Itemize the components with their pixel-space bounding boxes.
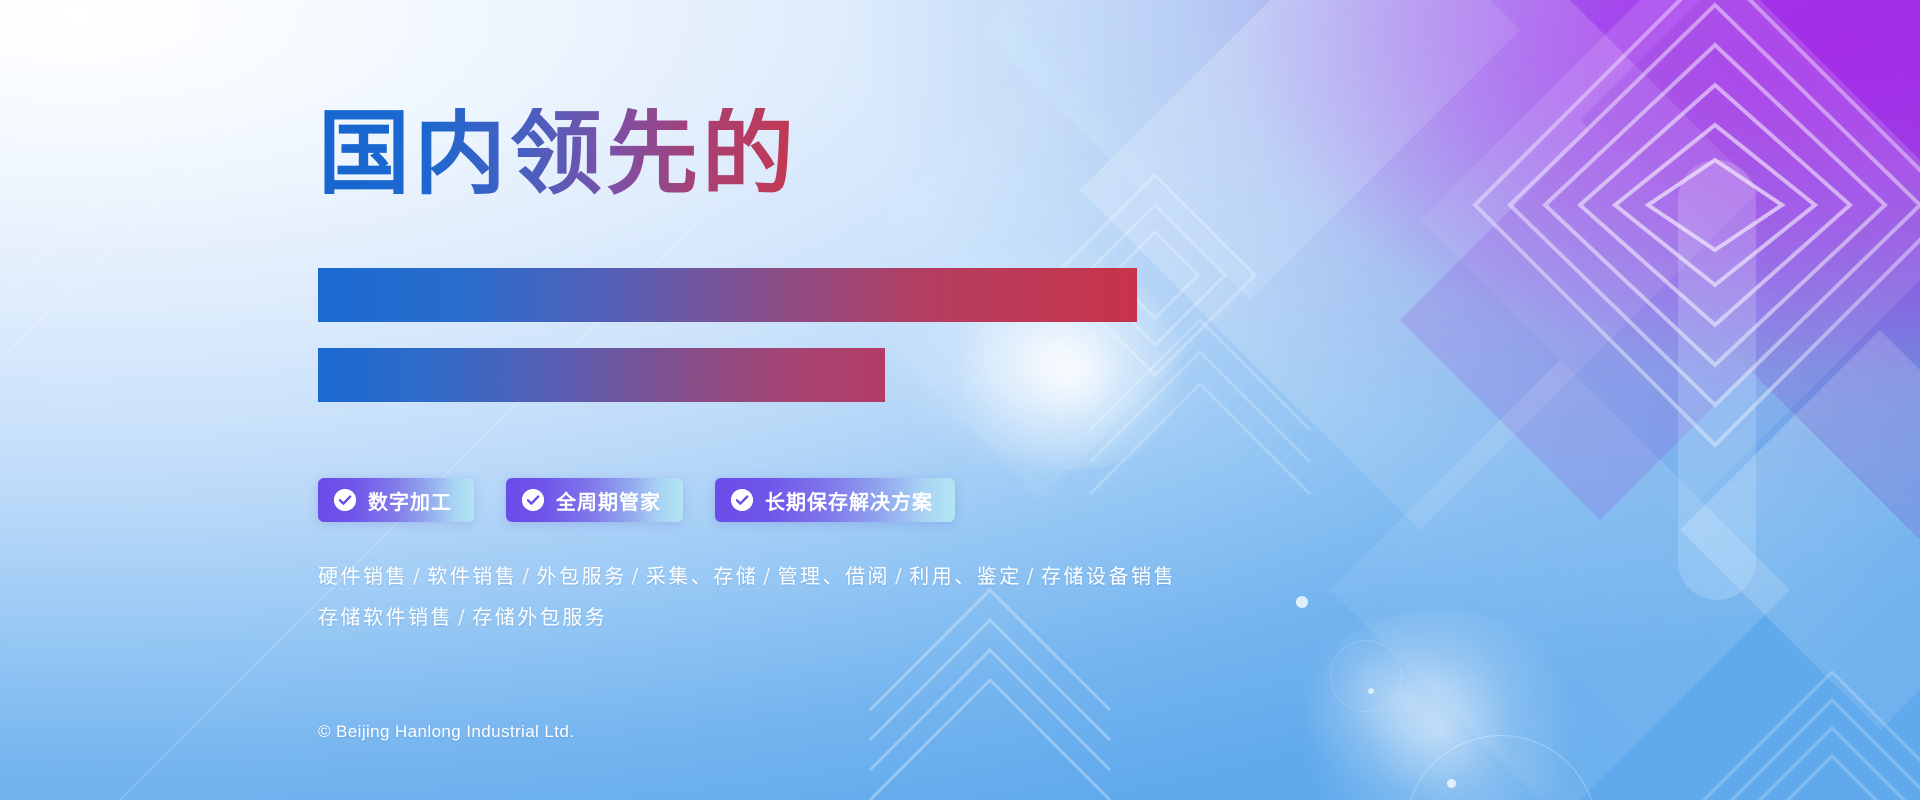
services-line-1: 硬件销售/软件销售/外包服务/采集、存储/管理、借阅/利用、鉴定/存储设备销售	[318, 556, 1298, 597]
feature-badge-full-lifecycle[interactable]: 全周期管家	[506, 478, 683, 522]
service-separator: /	[758, 564, 777, 588]
feature-badge-label: 长期保存解决方案	[765, 486, 933, 515]
service-item: 采集、存储	[646, 564, 759, 588]
feature-badge-long-term-preservation[interactable]: 长期保存解决方案	[715, 478, 955, 522]
hero-banner: 国内领先的 数字影像设备集成和文献保护 整体解决方案提供商 数字加工	[0, 0, 1920, 800]
service-separator: /	[890, 564, 909, 588]
services-line-2: 存储软件销售/存储外包服务	[318, 597, 1298, 638]
service-item: 软件销售	[427, 564, 517, 588]
service-separator: /	[627, 564, 646, 588]
service-separator: /	[453, 605, 472, 629]
headline: 国内领先的	[318, 108, 798, 200]
service-item: 存储外包服务	[472, 605, 607, 629]
subtitle-line-2: 整体解决方案提供商	[318, 348, 885, 402]
feature-badge-digital-processing[interactable]: 数字加工	[318, 478, 474, 522]
service-item: 利用、鉴定	[909, 564, 1022, 588]
rounded-pill-shape	[1678, 160, 1756, 600]
check-circle-icon	[522, 489, 544, 511]
service-item: 存储设备销售	[1041, 564, 1176, 588]
feature-badge-list: 数字加工 全周期管家 长期保存解决方案	[318, 478, 955, 522]
service-item: 外包服务	[537, 564, 627, 588]
service-separator: /	[408, 564, 427, 588]
service-item: 硬件销售	[318, 564, 408, 588]
concentric-diamond-rings-bottom-right	[1674, 672, 1920, 800]
subtitle-line-1: 数字影像设备集成和文献保护	[318, 268, 1137, 322]
check-circle-icon	[334, 489, 356, 511]
copyright-text: © Beijing Hanlong Industrial Ltd.	[318, 722, 574, 742]
check-circle-icon	[731, 489, 753, 511]
service-separator: /	[1022, 564, 1041, 588]
services-list: 硬件销售/软件销售/外包服务/采集、存储/管理、借阅/利用、鉴定/存储设备销售 …	[318, 556, 1298, 638]
service-item: 存储软件销售	[318, 605, 453, 629]
service-item: 管理、借阅	[778, 564, 891, 588]
banner-content: 国内领先的 数字影像设备集成和文献保护 整体解决方案提供商 数字加工	[318, 0, 1618, 800]
feature-badge-label: 数字加工	[368, 486, 452, 515]
feature-badge-label: 全周期管家	[556, 486, 661, 515]
service-separator: /	[517, 564, 536, 588]
